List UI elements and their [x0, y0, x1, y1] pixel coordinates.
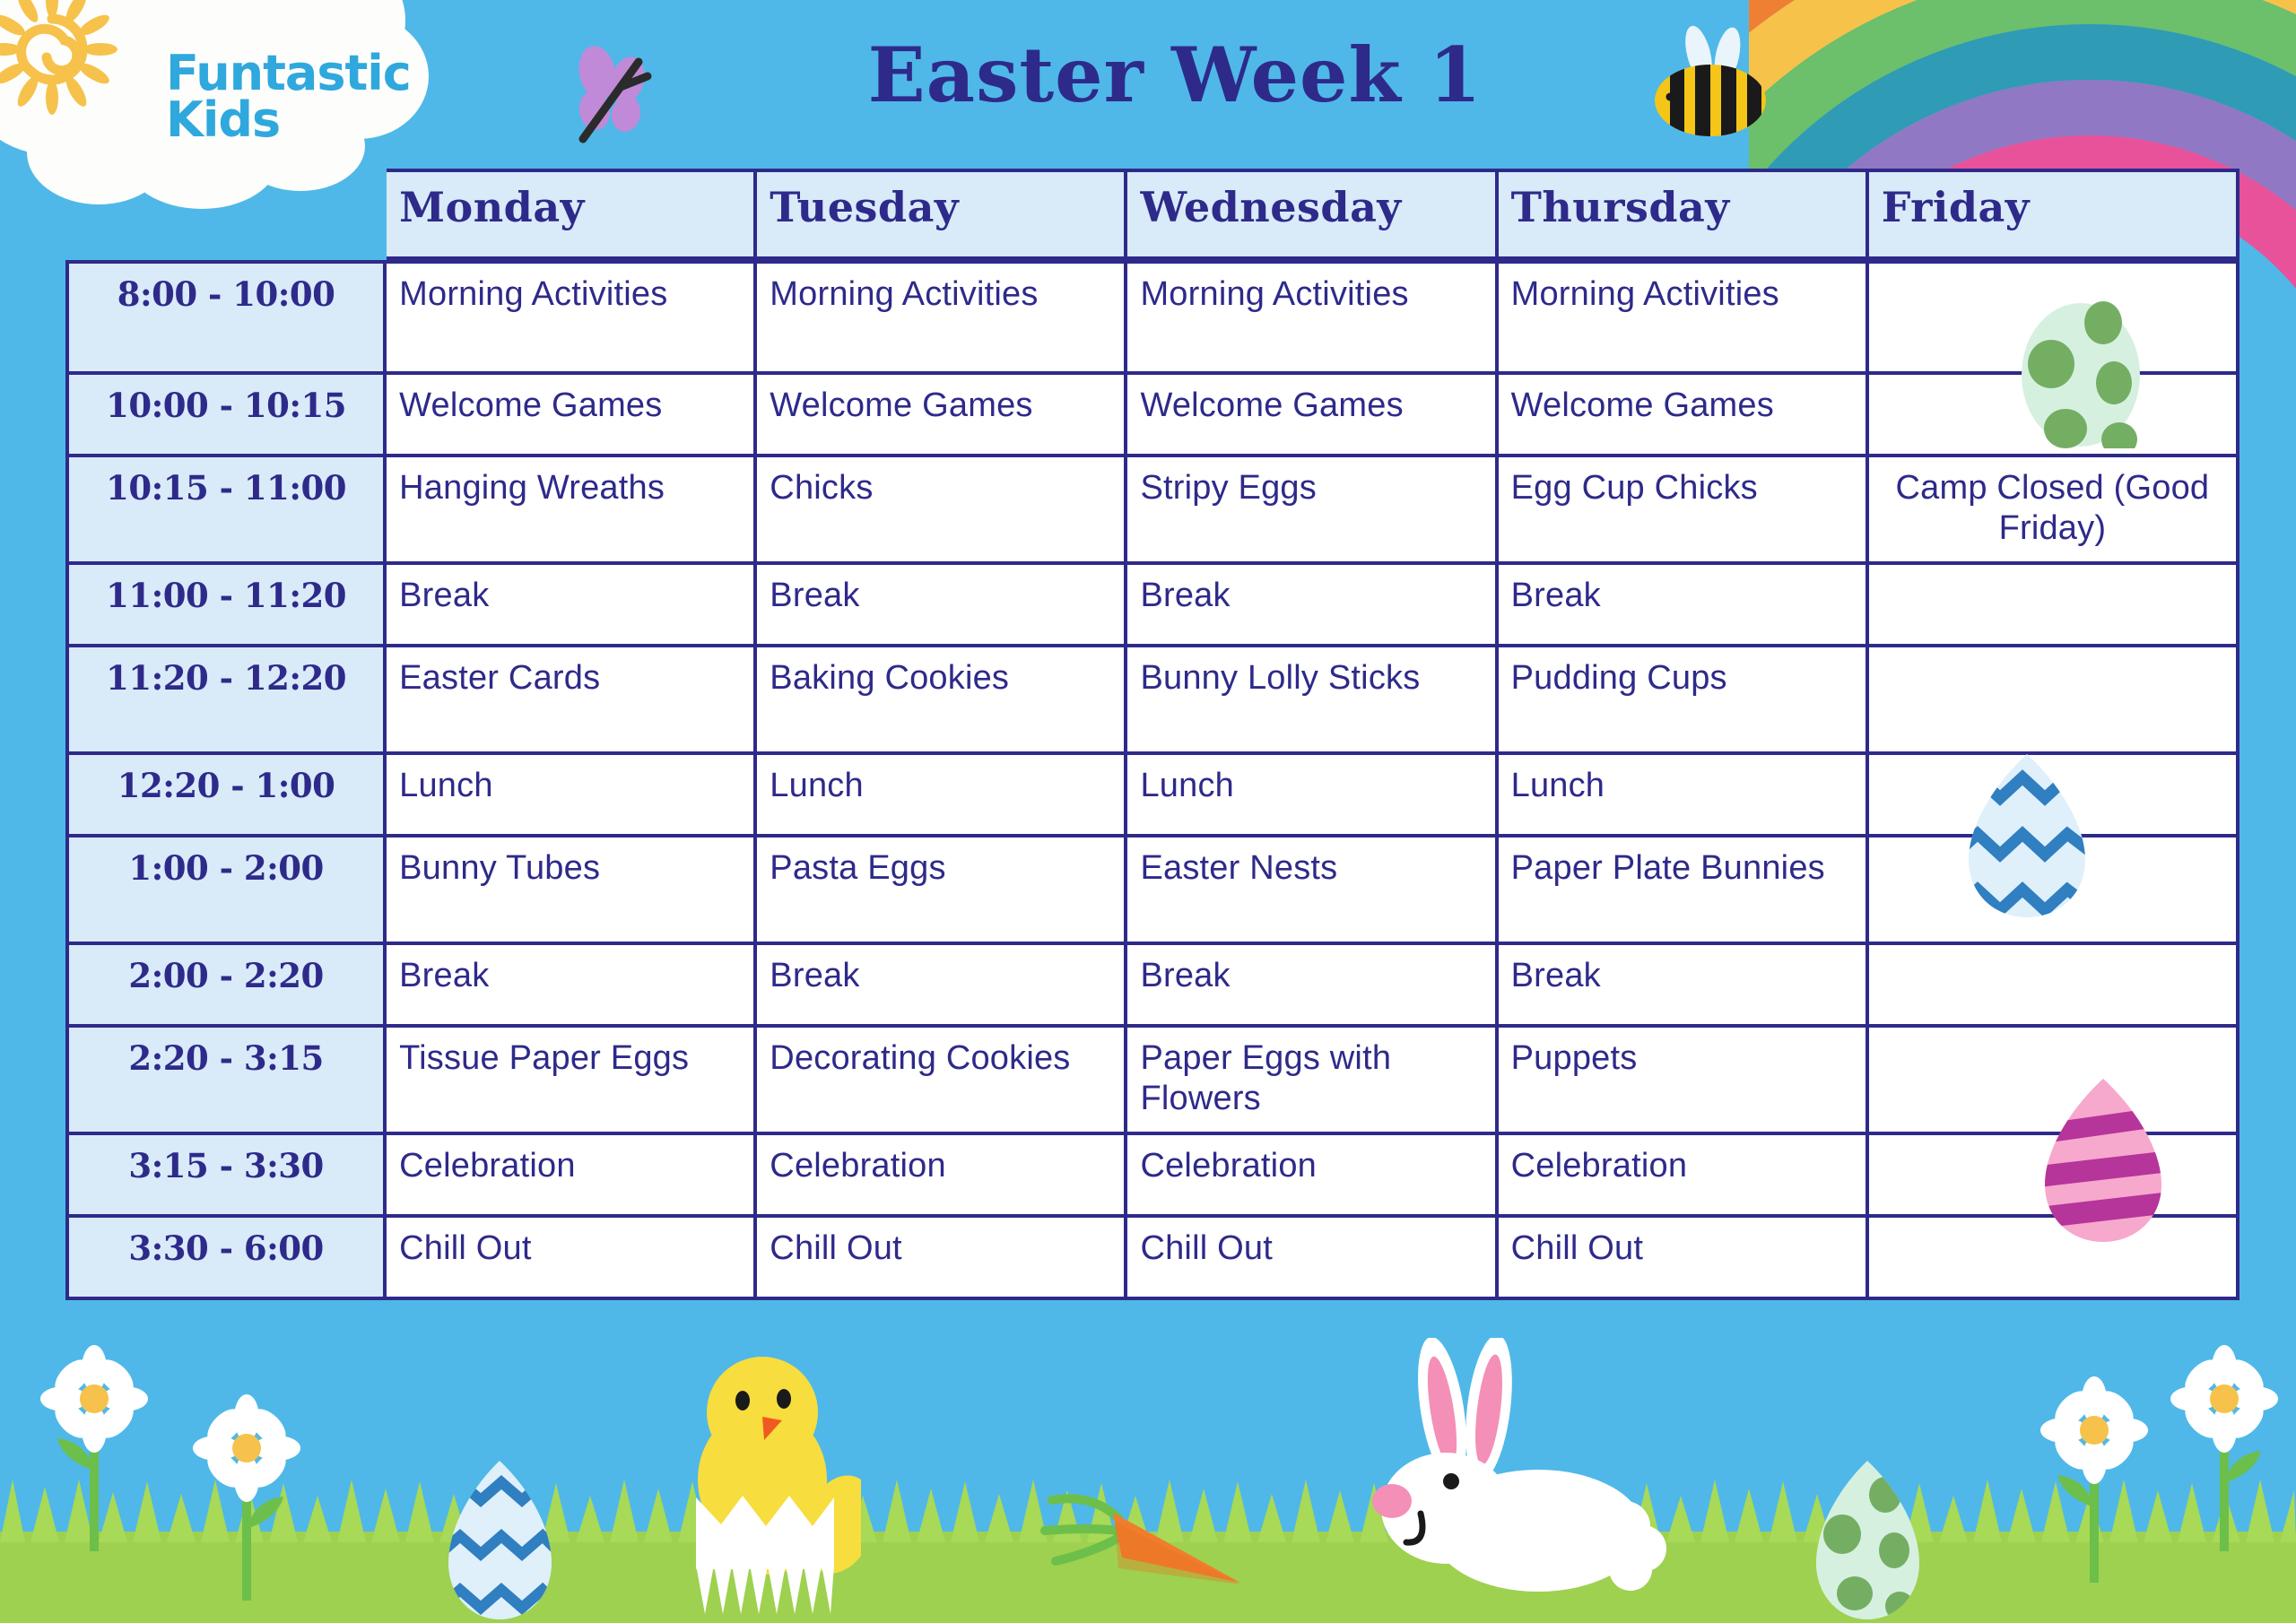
activity-cell: Break: [1127, 565, 1498, 647]
table-row: 3:15 - 3:30CelebrationCelebrationCelebra…: [65, 1135, 2239, 1218]
activity-cell: Stripy Eggs: [1127, 457, 1498, 565]
activity-cell: Break: [387, 945, 757, 1028]
activity-cell-empty: [1869, 1218, 2239, 1300]
activity-cell: Chill Out: [1127, 1218, 1498, 1300]
activity-cell-empty: [1869, 565, 2239, 647]
daisy-icon: [2166, 1345, 2283, 1551]
activity-cell: Welcome Games: [1127, 375, 1498, 457]
activity-cell: Welcome Games: [757, 375, 1127, 457]
activity-cell: Break: [1499, 945, 1869, 1028]
poster-canvas: Funtastic Kids Easter Week 1: [0, 0, 2296, 1623]
activity-cell: Chill Out: [757, 1218, 1127, 1300]
daisy-icon: [36, 1345, 152, 1551]
activity-cell: Morning Activities: [387, 260, 757, 375]
table-row: 11:00 - 11:20BreakBreakBreakBreak: [65, 565, 2239, 647]
brand-name-line1: Funtastic: [166, 50, 411, 97]
time-slot-cell: 1:00 - 2:00: [65, 838, 387, 945]
activity-cell: Paper Plate Bunnies: [1499, 838, 1869, 945]
mint-dotted-egg-bottom-icon: [1812, 1457, 1924, 1623]
butterfly-icon: [565, 40, 664, 148]
activity-cell: Tissue Paper Eggs: [387, 1028, 757, 1135]
activity-cell: Welcome Games: [1499, 375, 1869, 457]
blue-chevron-egg-bottom-icon: [444, 1457, 556, 1623]
daisy-icon: [188, 1394, 305, 1601]
activity-cell-empty: [1869, 755, 2239, 838]
page-title: Easter Week 1: [807, 30, 1543, 119]
activity-cell: Celebration: [387, 1135, 757, 1218]
activity-cell: Egg Cup Chicks: [1499, 457, 1869, 565]
time-slot-cell: 3:15 - 3:30: [65, 1135, 387, 1218]
activity-cell: Chill Out: [387, 1218, 757, 1300]
activity-cell: Puppets: [1499, 1028, 1869, 1135]
schedule-body: 8:00 - 10:00Morning ActivitiesMorning Ac…: [65, 260, 2239, 1300]
activity-cell: Pasta Eggs: [757, 838, 1127, 945]
activity-cell: Paper Eggs with Flowers: [1127, 1028, 1498, 1135]
activity-cell: Lunch: [387, 755, 757, 838]
activity-cell: Morning Activities: [757, 260, 1127, 375]
activity-cell: Break: [1499, 565, 1869, 647]
activity-cell: Celebration: [1499, 1135, 1869, 1218]
activity-cell: Easter Nests: [1127, 838, 1498, 945]
table-row: 10:00 - 10:15Welcome GamesWelcome GamesW…: [65, 375, 2239, 457]
day-header-friday: Friday: [1869, 169, 2239, 260]
activity-cell: Hanging Wreaths: [387, 457, 757, 565]
time-slot-cell: 8:00 - 10:00: [65, 260, 387, 375]
activity-cell: Welcome Games: [387, 375, 757, 457]
activity-cell: Chicks: [757, 457, 1127, 565]
day-header-tuesday: Tuesday: [757, 169, 1127, 260]
schedule-table: Monday Tuesday Wednesday Thursday Friday…: [65, 169, 2239, 1300]
time-slot-cell: 10:00 - 10:15: [65, 375, 387, 457]
activity-cell: Baking Cookies: [757, 647, 1127, 755]
activity-cell-empty: [1869, 945, 2239, 1028]
time-slot-cell: 10:15 - 11:00: [65, 457, 387, 565]
time-slot-cell: 11:20 - 12:20: [65, 647, 387, 755]
daisy-icon: [2036, 1376, 2152, 1583]
day-header-thursday: Thursday: [1499, 169, 1869, 260]
activity-cell: Decorating Cookies: [757, 1028, 1127, 1135]
activity-cell: Break: [757, 565, 1127, 647]
activity-cell: Celebration: [1127, 1135, 1498, 1218]
activity-cell: Bunny Tubes: [387, 838, 757, 945]
time-slot-cell: 2:20 - 3:15: [65, 1028, 387, 1135]
table-row: 1:00 - 2:00Bunny TubesPasta EggsEaster N…: [65, 838, 2239, 945]
activity-cell-empty: [1869, 375, 2239, 457]
table-row: 3:30 - 6:00Chill OutChill OutChill OutCh…: [65, 1218, 2239, 1300]
table-row: 2:00 - 2:20BreakBreakBreakBreak: [65, 945, 2239, 1028]
chick-in-egg-icon: [664, 1345, 861, 1614]
day-header-wednesday: Wednesday: [1127, 169, 1498, 260]
activity-cell: Break: [1127, 945, 1498, 1028]
activity-cell-empty: [1869, 1135, 2239, 1218]
activity-cell: Lunch: [757, 755, 1127, 838]
table-row: 2:20 - 3:15Tissue Paper EggsDecorating C…: [65, 1028, 2239, 1135]
time-slot-cell: 2:00 - 2:20: [65, 945, 387, 1028]
schedule-table-wrapper: Monday Tuesday Wednesday Thursday Friday…: [65, 169, 2239, 1300]
day-header-monday: Monday: [387, 169, 757, 260]
bunny-icon: [1345, 1338, 1686, 1607]
grass-strip: [0, 1480, 2296, 1623]
activity-cell: Celebration: [757, 1135, 1127, 1218]
activity-cell-empty: [1869, 838, 2239, 945]
time-slot-cell: 11:00 - 11:20: [65, 565, 387, 647]
activity-cell-empty: [1869, 260, 2239, 375]
brand-name-line2: Kids: [166, 97, 411, 143]
table-row: 8:00 - 10:00Morning ActivitiesMorning Ac…: [65, 260, 2239, 375]
activity-cell: Camp Closed (Good Friday): [1869, 457, 2239, 565]
time-slot-cell: 12:20 - 1:00: [65, 755, 387, 838]
activity-cell: Pudding Cups: [1499, 647, 1869, 755]
activity-cell: Chill Out: [1499, 1218, 1869, 1300]
table-row: 10:15 - 11:00Hanging WreathsChicksStripy…: [65, 457, 2239, 565]
activity-cell: Morning Activities: [1127, 260, 1498, 375]
activity-cell: Break: [757, 945, 1127, 1028]
brand-logo-text: Funtastic Kids: [166, 50, 411, 144]
time-slot-cell: 3:30 - 6:00: [65, 1218, 387, 1300]
activity-cell: Bunny Lolly Sticks: [1127, 647, 1498, 755]
carrot-icon: [1036, 1475, 1251, 1619]
activity-cell: Morning Activities: [1499, 260, 1869, 375]
table-row: 12:20 - 1:00LunchLunchLunchLunch: [65, 755, 2239, 838]
activity-cell: Easter Cards: [387, 647, 757, 755]
activity-cell-empty: [1869, 1028, 2239, 1135]
bee-icon: [1634, 25, 1787, 142]
activity-cell: Break: [387, 565, 757, 647]
activity-cell: Lunch: [1499, 755, 1869, 838]
activity-cell: Lunch: [1127, 755, 1498, 838]
table-row: 11:20 - 12:20Easter CardsBaking CookiesB…: [65, 647, 2239, 755]
activity-cell-empty: [1869, 647, 2239, 755]
